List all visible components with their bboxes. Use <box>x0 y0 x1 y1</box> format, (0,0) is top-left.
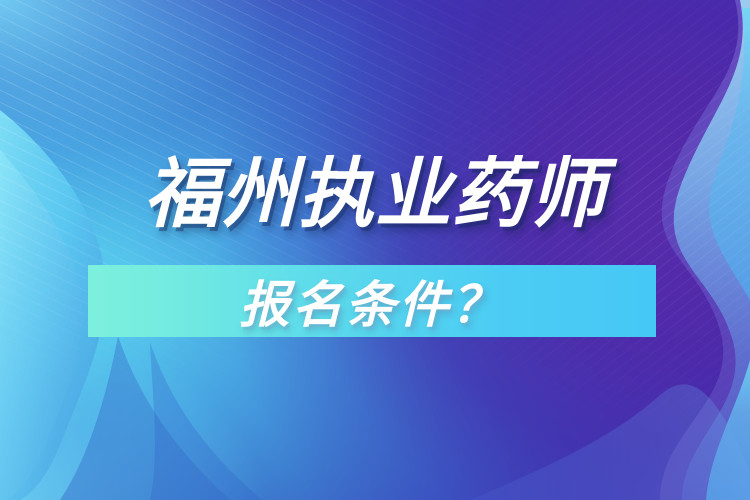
subtitle-text: 报名条件？ <box>88 265 656 337</box>
background-line-texture-right <box>0 0 750 500</box>
promo-banner: 福州执业药师 报名条件？ <box>0 0 750 500</box>
headline-title: 福州执业药师 <box>0 152 750 238</box>
